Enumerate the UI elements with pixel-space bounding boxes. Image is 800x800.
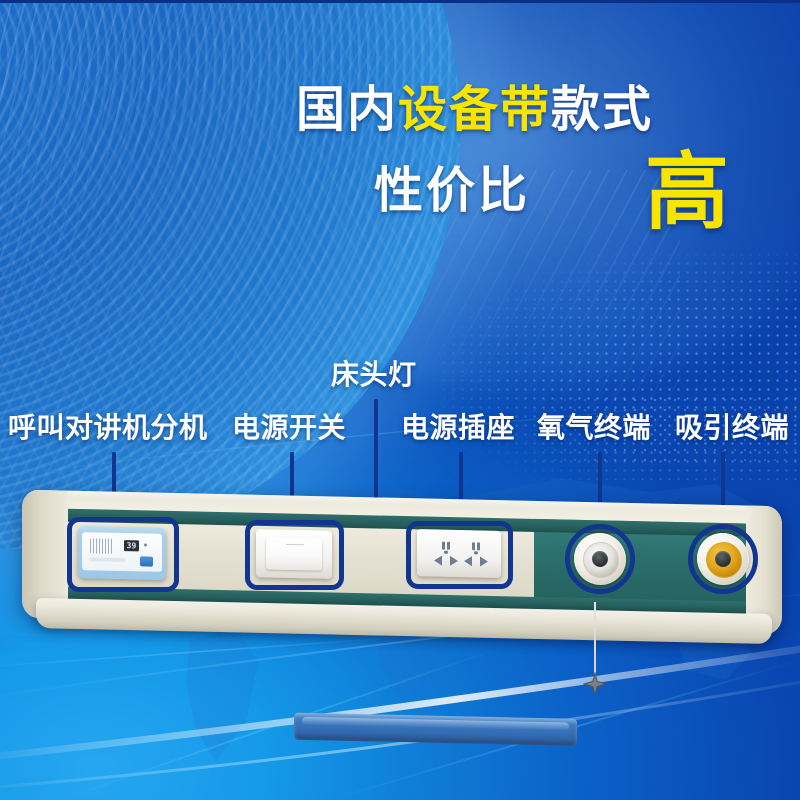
highlight-box-intercom	[67, 517, 179, 592]
pull-cord[interactable]	[594, 602, 596, 676]
callout-label-intercom: 呼叫对讲机分机	[8, 414, 208, 442]
promo-banner: 国内设备带款式 性价比 高 呼叫对讲机分机 电源开关 床头灯 电源插座 氧气终端…	[0, 0, 800, 800]
headline-line-2: 性价比	[374, 167, 530, 216]
callout-label-bed-lamp: 床头灯	[331, 361, 417, 389]
headline-part-1: 国内	[296, 83, 398, 137]
callout-label-power-socket: 电源插座	[401, 414, 515, 442]
highlight-circle-suction	[688, 524, 758, 594]
callout-label-suction: 吸引终端	[675, 414, 789, 442]
headline-part-2-highlight: 设备带	[398, 83, 551, 137]
highlight-circle-oxygen	[565, 524, 635, 594]
highlight-box-power-socket	[406, 521, 513, 589]
headline-emphasis-character: 高	[645, 150, 729, 234]
callout-label-oxygen: 氧气终端	[537, 414, 651, 442]
headline-block: 国内设备带款式 性价比 高	[0, 0, 800, 250]
headline-line-1: 国内设备带款式	[296, 86, 653, 135]
headline-part-3: 款式	[551, 83, 653, 137]
lamp-gloss-highlight	[302, 717, 569, 731]
callout-label-power-switch: 电源开关	[232, 414, 346, 442]
highlight-box-power-switch	[245, 520, 344, 590]
pull-cord-handle-icon[interactable]	[583, 672, 607, 696]
